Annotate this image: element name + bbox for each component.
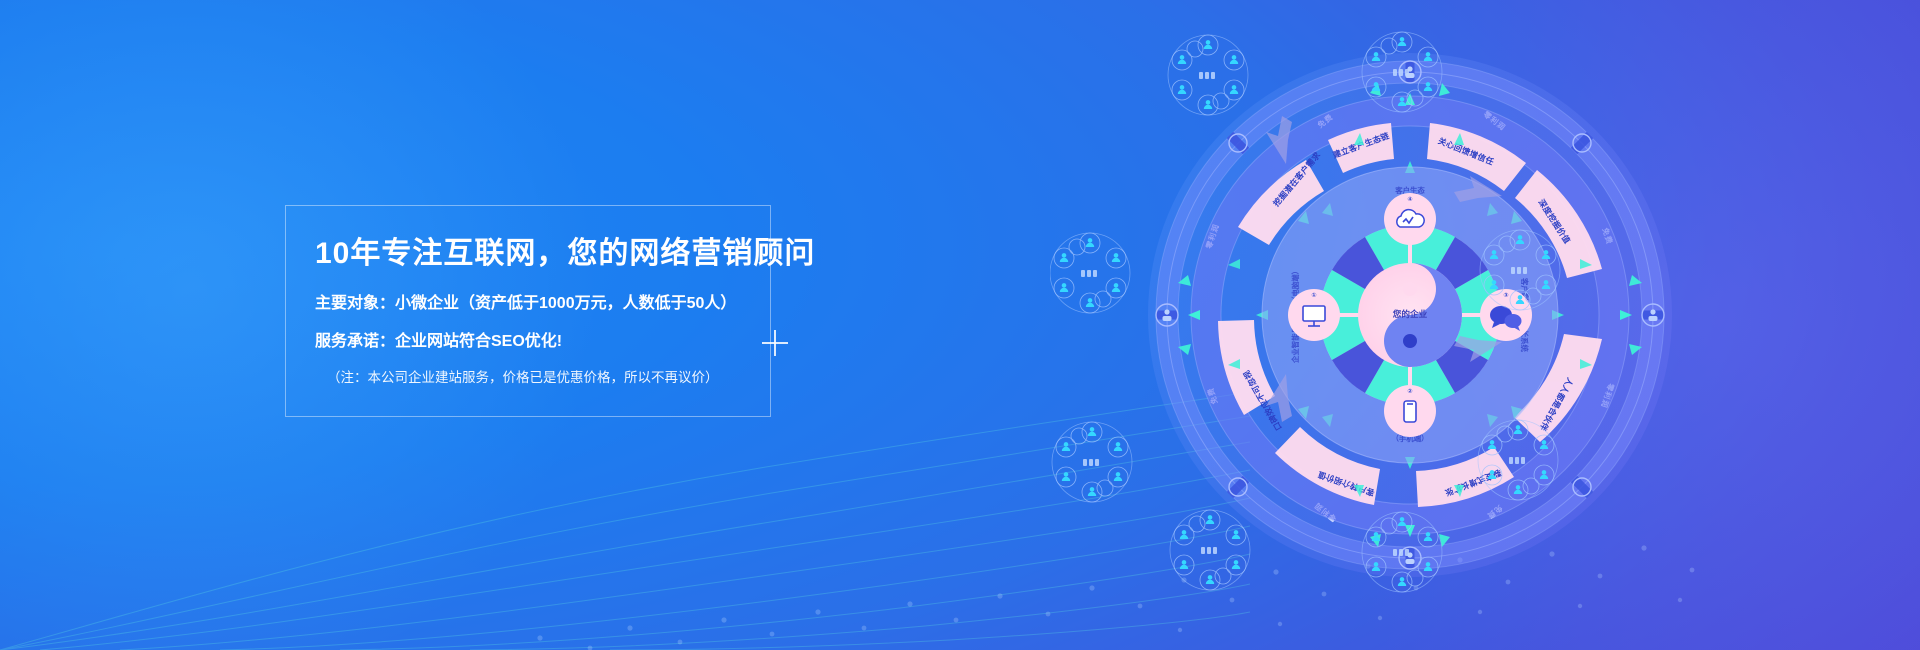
center-label: 您的企业 xyxy=(1393,308,1428,319)
node-number-1: ① xyxy=(1311,292,1316,299)
yin-yang-core: 您的企业 xyxy=(1358,263,1462,367)
copy-block: 10年专注互联网，您的网络营销顾问 主要对象：小微企业（资产低于1000万元，人… xyxy=(315,205,785,417)
audience-line: 主要对象：小微企业（资产低于1000万元，人数低于50人） xyxy=(315,294,785,313)
node-bubble-chat: ③ xyxy=(1480,289,1532,341)
node-number-2: ② xyxy=(1407,388,1412,395)
promise-line: 服务承诺：企业网站符合SEO优化! xyxy=(315,332,785,351)
price-note-line: （注：本公司企业建站服务，价格已是优惠价格，所以不再议价） xyxy=(315,370,785,386)
node-number-3: ③ xyxy=(1503,292,1508,299)
ecosystem-diagram: 免费 零利润 免费 零利润 免费 零利润 免费 零利润 xyxy=(1060,0,1760,650)
node-bubble-cloud: ④ xyxy=(1384,193,1436,245)
marketing-banner: 10年专注互联网，您的网络营销顾问 主要对象：小微企业（资产低于1000万元，人… xyxy=(0,0,1920,650)
node-bubble-mobile: ② xyxy=(1384,385,1436,437)
page-title: 10年专注互联网，您的网络营销顾问 xyxy=(315,236,785,272)
mobile-icon xyxy=(1404,401,1416,422)
node-bubble-monitor: ① xyxy=(1288,289,1340,341)
node-number-4: ④ xyxy=(1407,196,1412,203)
